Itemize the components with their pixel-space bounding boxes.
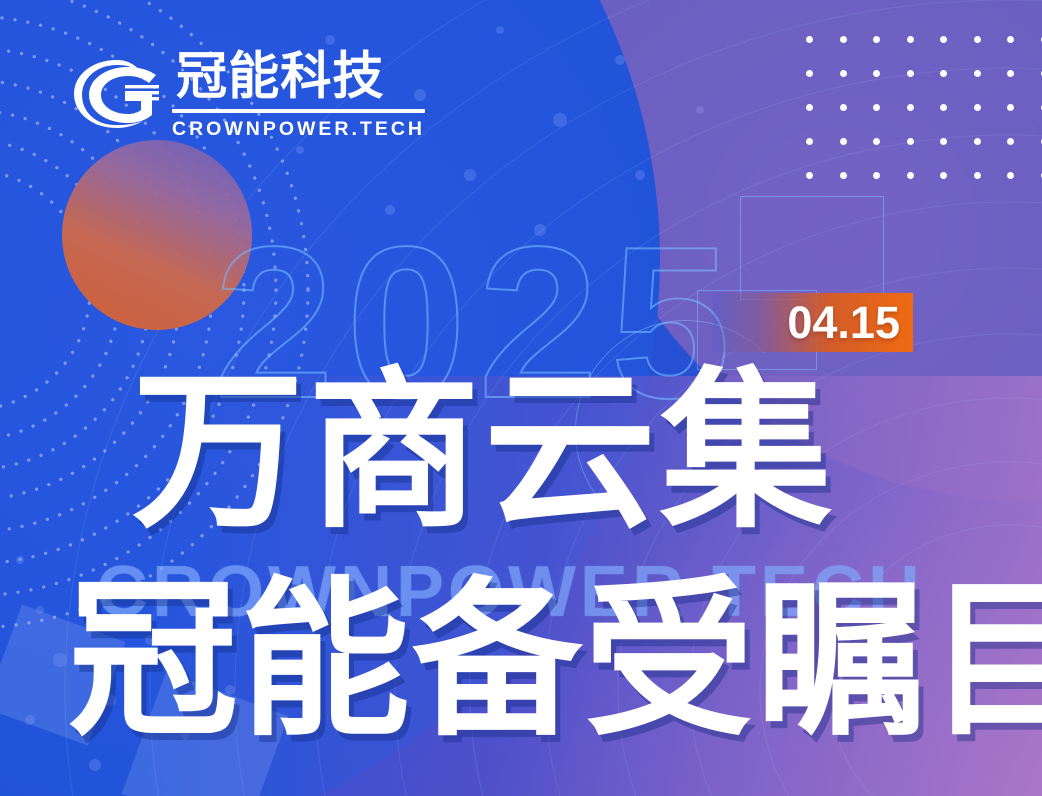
date-badge: 04.15 <box>713 293 913 352</box>
brand-wordmark: 冠能科技 CROWNPOWER.TECH <box>172 48 425 140</box>
svg-text:冠能科技: 冠能科技 <box>176 48 385 104</box>
brand-logo: 冠能科技 CROWNPOWER.TECH <box>70 48 425 140</box>
crownpower-g-emblem-icon <box>70 55 162 133</box>
headline-line-2: 冠能备受瞩目 <box>68 576 1042 746</box>
outline-square-decor-2 <box>740 196 884 300</box>
dot-grid-decor <box>806 36 1042 206</box>
logo-divider <box>172 109 425 113</box>
date-badge-value: 04.15 <box>787 300 900 345</box>
brand-name-cn-icon: 冠能科技 <box>172 48 404 104</box>
brand-name-en: CROWNPOWER.TECH <box>172 119 425 140</box>
headline-line-1: 万商云集 <box>132 366 1042 538</box>
headline-block: 万商云集 冠能备受瞩目 <box>0 366 1042 746</box>
poster-canvas: 2025 冠能科技 CROWNPOWER.TECH 04.15 <box>0 0 1042 796</box>
